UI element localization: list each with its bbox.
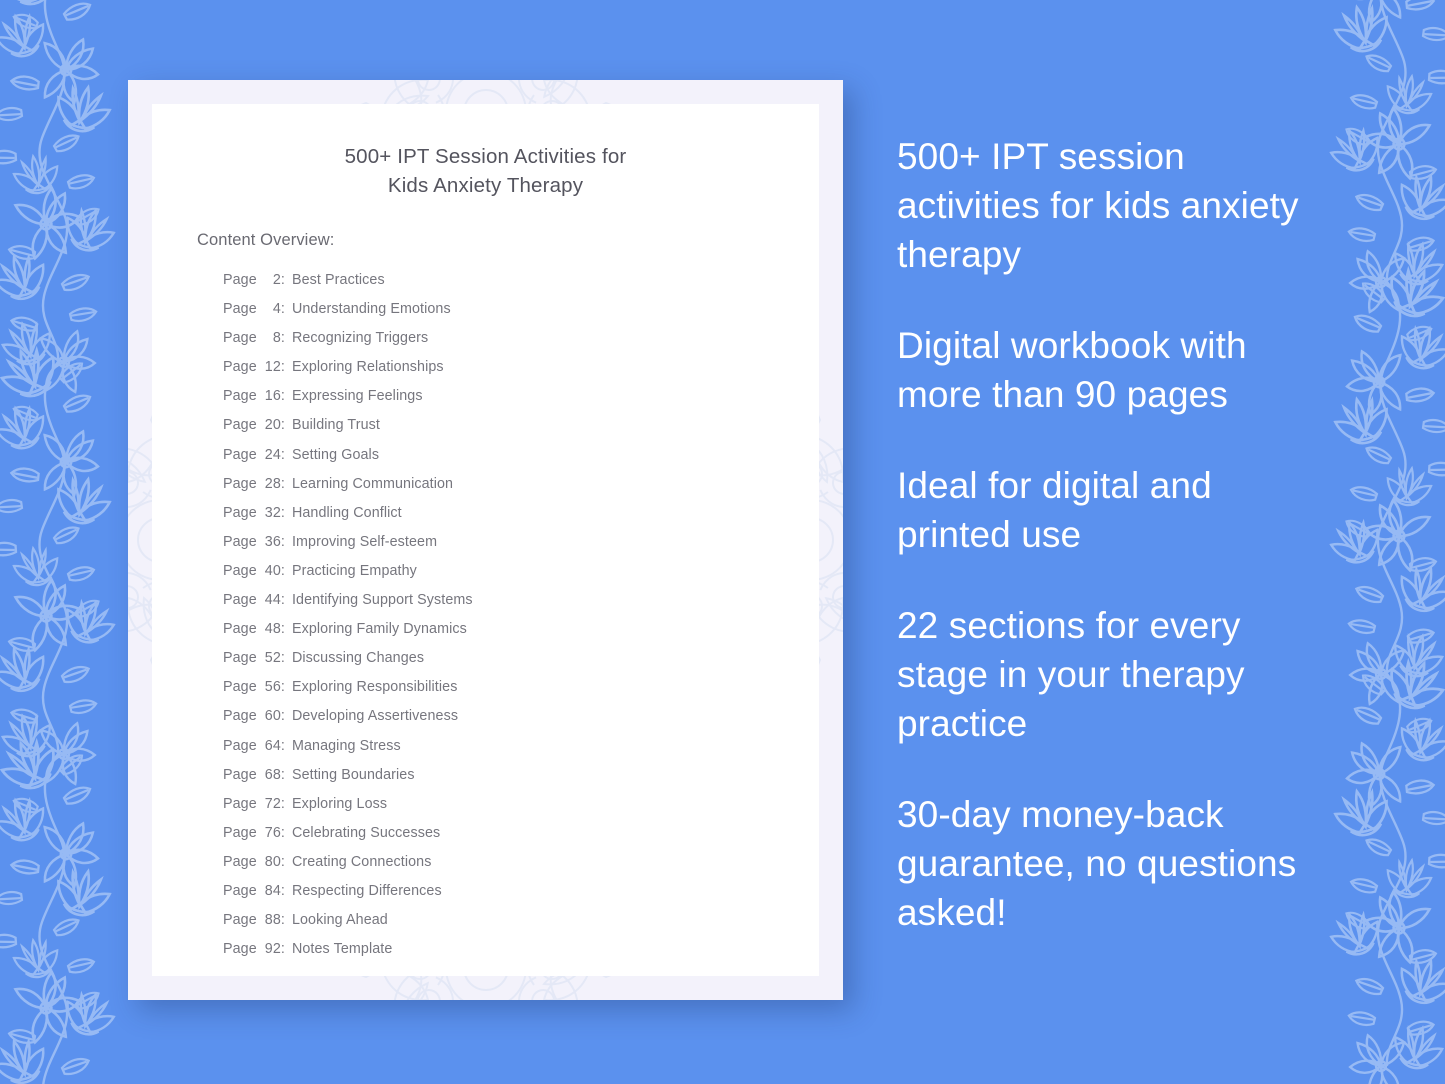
toc-section-title: Developing Assertiveness [285, 702, 458, 731]
toc-page-number: 36 [261, 528, 281, 557]
toc-section-title: Respecting Differences [285, 877, 442, 906]
toc-entry: Page 16:Expressing Feelings [223, 382, 819, 411]
toc-page-word: Page [223, 767, 257, 783]
toc-entry: Page 36:Improving Self-esteem [223, 528, 819, 557]
toc-section-title: Notes Template [285, 935, 392, 964]
toc-page-number: 44 [261, 586, 281, 615]
toc-page-number: 8 [261, 324, 281, 353]
toc-page-column: Page 4: [223, 295, 285, 324]
toc-entry: Page 84:Respecting Differences [223, 877, 819, 906]
toc-page-word: Page [223, 301, 257, 317]
toc-page-number: 92 [261, 935, 281, 964]
toc-section-title: Setting Goals [285, 441, 379, 470]
toc-section-title: Exploring Family Dynamics [285, 615, 467, 644]
toc-page-column: Page 28: [223, 470, 285, 499]
toc-page-word: Page [223, 388, 257, 404]
marketing-line: Ideal for digital and printed use [897, 461, 1333, 559]
toc-entry: Page 40:Practicing Empathy [223, 557, 819, 586]
marketing-line: 30-day money-back guarantee, no question… [897, 790, 1333, 937]
toc-entry: Page 88:Looking Ahead [223, 906, 819, 935]
toc-page-word: Page [223, 796, 257, 812]
toc-page-number: 88 [261, 906, 281, 935]
toc-section-title: Exploring Responsibilities [285, 673, 458, 702]
toc-section-title: Understanding Emotions [285, 295, 451, 324]
toc-section-title: Exploring Relationships [285, 353, 444, 382]
toc-page-word: Page [223, 447, 257, 463]
toc-page-column: Page 8: [223, 324, 285, 353]
toc-page-word: Page [223, 417, 257, 433]
toc-entry: Page 80:Creating Connections [223, 848, 819, 877]
toc-section-title: Handling Conflict [285, 499, 402, 528]
toc-entry: Page 20:Building Trust [223, 411, 819, 440]
toc-page-word: Page [223, 476, 257, 492]
toc-page-column: Page 64: [223, 732, 285, 761]
toc-entry: Page 72:Exploring Loss [223, 790, 819, 819]
toc-page-column: Page 52: [223, 644, 285, 673]
marketing-line: 500+ IPT session activities for kids anx… [897, 132, 1333, 279]
toc-page-column: Page 76: [223, 819, 285, 848]
toc-entry: Page 60:Developing Assertiveness [223, 702, 819, 731]
toc-entry: Page 68:Setting Boundaries [223, 761, 819, 790]
toc-page-column: Page 68: [223, 761, 285, 790]
toc-page-column: Page 12: [223, 353, 285, 382]
toc-page-column: Page 2: [223, 266, 285, 295]
toc-entry: Page 92:Notes Template [223, 935, 819, 964]
workbook-page: 500+ IPT Session Activities for Kids Anx… [152, 104, 819, 976]
toc-entry: Page 56:Exploring Responsibilities [223, 673, 819, 702]
toc-page-column: Page 32: [223, 499, 285, 528]
toc-section-title: Learning Communication [285, 470, 453, 499]
marketing-line: Digital workbook with more than 90 pages [897, 321, 1333, 419]
table-of-contents: Page 2:Best PracticesPage 4:Understandin… [152, 250, 819, 964]
toc-entry: Page 24:Setting Goals [223, 441, 819, 470]
toc-section-title: Looking Ahead [285, 906, 388, 935]
toc-page-number: 40 [261, 557, 281, 586]
marketing-copy: 500+ IPT session activities for kids anx… [897, 132, 1333, 937]
floral-vine-border-right-icon [1323, 0, 1445, 1084]
toc-page-column: Page 56: [223, 673, 285, 702]
toc-page-word: Page [223, 738, 257, 754]
toc-page-number: 20 [261, 411, 281, 440]
toc-page-number: 24 [261, 441, 281, 470]
toc-entry: Page 4:Understanding Emotions [223, 295, 819, 324]
toc-entry: Page 32:Handling Conflict [223, 499, 819, 528]
toc-page-number: 72 [261, 790, 281, 819]
toc-page-number: 68 [261, 761, 281, 790]
page-title: 500+ IPT Session Activities for Kids Anx… [152, 104, 819, 200]
toc-page-word: Page [223, 679, 257, 695]
floral-vine-border-left-icon [0, 0, 122, 1084]
toc-page-word: Page [223, 592, 257, 608]
toc-page-word: Page [223, 359, 257, 375]
toc-page-number: 52 [261, 644, 281, 673]
toc-page-number: 60 [261, 702, 281, 731]
toc-entry: Page 12:Exploring Relationships [223, 353, 819, 382]
toc-page-column: Page 60: [223, 702, 285, 731]
toc-page-word: Page [223, 941, 257, 957]
toc-section-title: Setting Boundaries [285, 761, 415, 790]
poster-canvas: 500+ IPT Session Activities for Kids Anx… [0, 0, 1445, 1084]
toc-page-number: 56 [261, 673, 281, 702]
toc-page-column: Page 24: [223, 441, 285, 470]
content-overview-label: Content Overview: [152, 200, 819, 250]
toc-page-column: Page 36: [223, 528, 285, 557]
toc-page-word: Page [223, 534, 257, 550]
toc-section-title: Recognizing Triggers [285, 324, 428, 353]
toc-page-word: Page [223, 272, 257, 288]
toc-page-column: Page 92: [223, 935, 285, 964]
toc-page-column: Page 48: [223, 615, 285, 644]
toc-page-column: Page 72: [223, 790, 285, 819]
toc-page-number: 32 [261, 499, 281, 528]
toc-page-column: Page 16: [223, 382, 285, 411]
toc-section-title: Managing Stress [285, 732, 401, 761]
toc-page-word: Page [223, 621, 257, 637]
toc-page-number: 16 [261, 382, 281, 411]
toc-page-number: 12 [261, 353, 281, 382]
toc-section-title: Celebrating Successes [285, 819, 440, 848]
toc-page-number: 28 [261, 470, 281, 499]
toc-page-column: Page 80: [223, 848, 285, 877]
toc-section-title: Practicing Empathy [285, 557, 417, 586]
toc-entry: Page 52:Discussing Changes [223, 644, 819, 673]
toc-entry: Page 2:Best Practices [223, 266, 819, 295]
toc-page-number: 84 [261, 877, 281, 906]
toc-page-number: 48 [261, 615, 281, 644]
toc-section-title: Identifying Support Systems [285, 586, 473, 615]
toc-page-number: 64 [261, 732, 281, 761]
toc-page-column: Page 20: [223, 411, 285, 440]
toc-page-number: 4 [261, 295, 281, 324]
toc-page-column: Page 84: [223, 877, 285, 906]
toc-page-word: Page [223, 330, 257, 346]
toc-entry: Page 64:Managing Stress [223, 732, 819, 761]
toc-page-word: Page [223, 883, 257, 899]
toc-entry: Page 48:Exploring Family Dynamics [223, 615, 819, 644]
toc-section-title: Discussing Changes [285, 644, 424, 673]
toc-entry: Page 8:Recognizing Triggers [223, 324, 819, 353]
toc-page-number: 80 [261, 848, 281, 877]
toc-page-word: Page [223, 650, 257, 666]
toc-page-word: Page [223, 912, 257, 928]
toc-entry: Page 76:Celebrating Successes [223, 819, 819, 848]
toc-page-word: Page [223, 825, 257, 841]
toc-entry: Page 28:Learning Communication [223, 470, 819, 499]
workbook-preview-card: 500+ IPT Session Activities for Kids Anx… [128, 80, 843, 1000]
toc-section-title: Building Trust [285, 411, 380, 440]
toc-page-column: Page 40: [223, 557, 285, 586]
toc-section-title: Best Practices [285, 266, 385, 295]
toc-page-number: 76 [261, 819, 281, 848]
toc-page-word: Page [223, 563, 257, 579]
toc-page-column: Page 44: [223, 586, 285, 615]
toc-section-title: Exploring Loss [285, 790, 387, 819]
marketing-line: 22 sections for every stage in your ther… [897, 601, 1333, 748]
toc-section-title: Expressing Feelings [285, 382, 423, 411]
toc-page-column: Page 88: [223, 906, 285, 935]
toc-page-word: Page [223, 505, 257, 521]
toc-page-word: Page [223, 708, 257, 724]
toc-page-word: Page [223, 854, 257, 870]
toc-entry: Page 44:Identifying Support Systems [223, 586, 819, 615]
toc-page-number: 2 [261, 266, 281, 295]
toc-section-title: Creating Connections [285, 848, 432, 877]
toc-section-title: Improving Self-esteem [285, 528, 437, 557]
